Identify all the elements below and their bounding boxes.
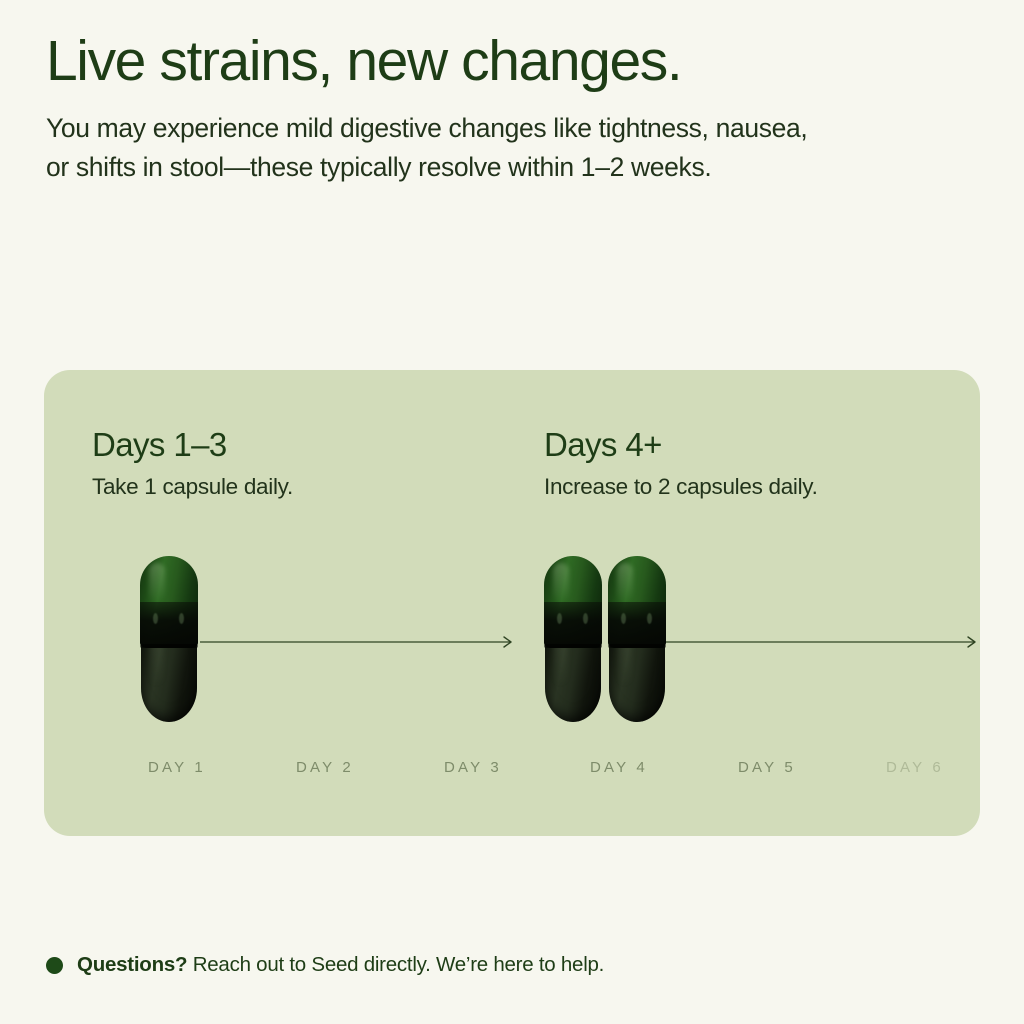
- page-subtitle: You may experience mild digestive change…: [46, 109, 836, 187]
- capsule-cap: [140, 556, 198, 648]
- capsule-graphic: [140, 556, 198, 722]
- promo-page: Live strains, new changes. You may exper…: [0, 0, 1024, 1024]
- capsule-seam: [608, 644, 666, 648]
- column-title-days-1-3: Days 1–3: [92, 428, 227, 461]
- right-arrow-icon: [200, 636, 516, 648]
- capsule-dimple: [621, 613, 626, 624]
- day-label-2: DAY 2: [296, 758, 354, 778]
- capsule-dimple: [153, 613, 158, 624]
- capsule-graphic: [608, 556, 666, 722]
- capsule-cap: [544, 556, 602, 648]
- right-arrow-icon: [666, 636, 980, 648]
- footer-help-note: Questions? Reach out to Seed directly. W…: [46, 955, 604, 976]
- column-title-days-4-plus: Days 4+: [544, 428, 662, 461]
- day-label-1: DAY 1: [148, 758, 206, 778]
- day-label-5: DAY 5: [738, 758, 796, 778]
- column-subtitle-days-4-plus: Increase to 2 capsules daily.: [544, 476, 818, 499]
- dosage-columns: Days 1–3 Take 1 capsule daily.: [44, 370, 980, 836]
- capsule-group-one: [140, 556, 198, 722]
- dosage-schedule-card: Days 1–3 Take 1 capsule daily.: [44, 370, 980, 836]
- capsule-group-two: [544, 556, 666, 722]
- header: Live strains, new changes. You may exper…: [46, 30, 906, 187]
- footer-text: Questions? Reach out to Seed directly. W…: [77, 955, 604, 976]
- column-subtitle-days-1-3: Take 1 capsule daily.: [92, 476, 293, 499]
- capsule-dimple: [179, 613, 184, 624]
- capsule-seam: [544, 644, 602, 648]
- capsule-dimple: [583, 613, 588, 624]
- capsule-dimple: [647, 613, 652, 624]
- day-label-4: DAY 4: [590, 758, 648, 778]
- capsule-graphic: [544, 556, 602, 722]
- page-title: Live strains, new changes.: [46, 30, 906, 93]
- footer-lead: Questions?: [77, 953, 187, 976]
- capsule-cap: [608, 556, 666, 648]
- capsule-seam: [140, 644, 198, 648]
- capsule-dimple: [557, 613, 562, 624]
- bullet-dot-icon: [46, 957, 63, 974]
- day-axis: DAY 1 DAY 2 DAY 3 DAY 4 DAY 5 DAY 6: [44, 758, 980, 778]
- day-label-3: DAY 3: [444, 758, 502, 778]
- day-label-6: DAY 6: [886, 758, 944, 778]
- footer-rest: Reach out to Seed directly. We’re here t…: [187, 953, 604, 976]
